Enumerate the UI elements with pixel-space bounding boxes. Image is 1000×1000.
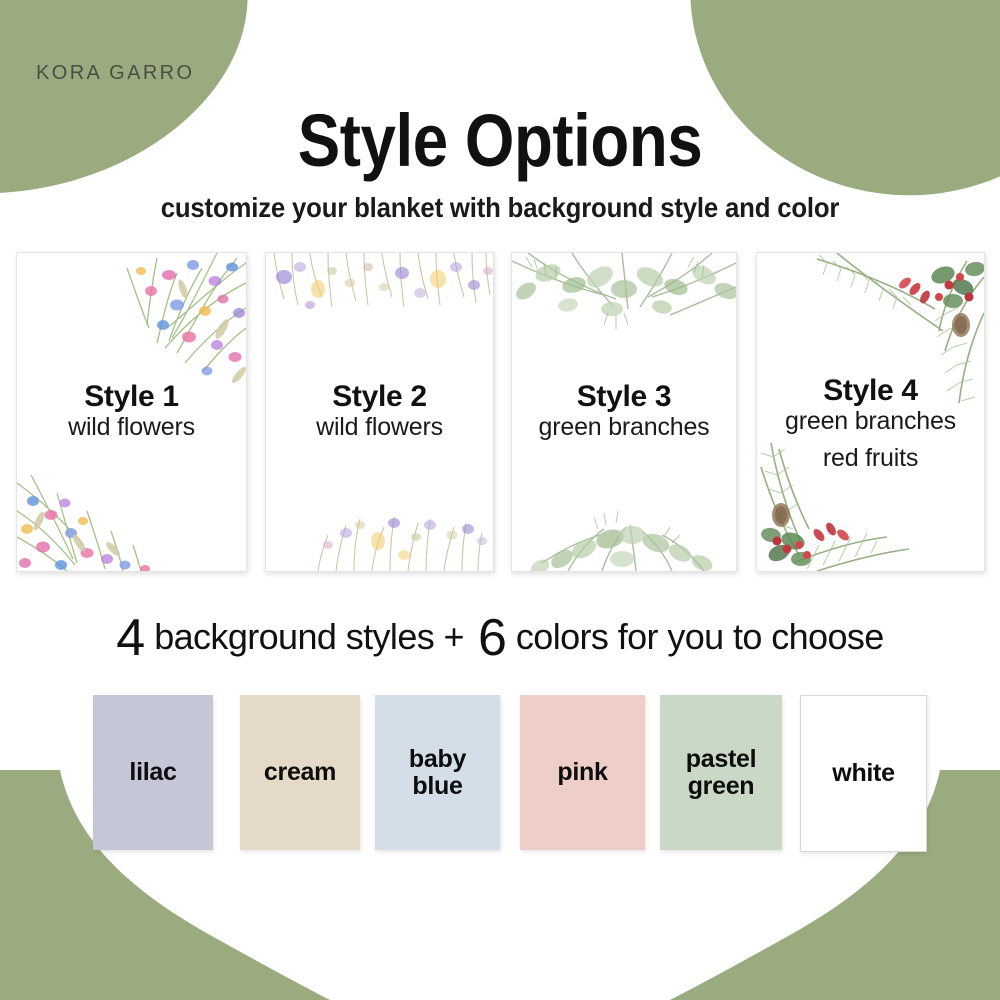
brand-logo-text: KORA GARRO xyxy=(36,62,194,85)
summary-line: 4background styles +6colors for you to c… xyxy=(0,608,1000,668)
style-4-desc: green branches xyxy=(737,407,1000,437)
style-2-label-group: Style 2 wild flowers xyxy=(246,381,513,442)
style-3-label-group: Style 3 green branches xyxy=(492,381,756,442)
color-label-cream: cream xyxy=(264,759,336,786)
color-swatch-baby-blue[interactable]: baby blue xyxy=(375,695,500,850)
color-swatch-pink[interactable]: pink xyxy=(520,695,645,850)
style-card-1[interactable]: Style 1 wild flowers xyxy=(16,252,247,572)
style-4-label-group: Style 4 green branches red fruits xyxy=(737,375,1000,474)
style-card-4[interactable]: Style 4 green branches red fruits xyxy=(756,252,985,572)
style-card-2[interactable]: Style 2 wild flowers xyxy=(265,252,494,572)
style-1-name: Style 1 xyxy=(0,381,266,413)
style-2-desc: wild flowers xyxy=(246,413,513,443)
color-label-baby-blue-line2: blue xyxy=(412,772,462,800)
style-4-desc-2: red fruits xyxy=(737,444,1000,474)
colors-text: colors for you to choose xyxy=(516,616,884,657)
style-1-label-group: Style 1 wild flowers xyxy=(0,381,266,442)
color-swatch-lilac[interactable]: lilac xyxy=(93,695,213,850)
color-label-lilac: lilac xyxy=(129,759,176,786)
color-label-baby-blue: baby blue xyxy=(409,746,466,800)
styles-text: background styles + xyxy=(154,616,464,657)
color-label-white: white xyxy=(832,760,894,787)
style-count: 4 xyxy=(116,609,144,667)
color-count: 6 xyxy=(478,609,506,667)
color-label-pastel-green-line2: green xyxy=(688,772,755,800)
style-3-desc: green branches xyxy=(492,413,756,443)
page-subtitle: customize your blanket with background s… xyxy=(40,192,960,224)
color-swatch-cream[interactable]: cream xyxy=(240,695,360,850)
color-label-pastel-green: pastel green xyxy=(686,746,756,800)
style-3-name: Style 3 xyxy=(492,381,756,413)
poster-canvas: KORA GARRO Style Options customize your … xyxy=(0,0,1000,1000)
style-1-desc: wild flowers xyxy=(0,413,266,443)
style-card-list: Style 1 wild flowers xyxy=(0,252,1000,572)
color-swatch-list: lilac cream baby blue pink pastel green … xyxy=(0,695,1000,855)
style-card-3[interactable]: Style 3 green branches xyxy=(511,252,737,572)
color-label-pink: pink xyxy=(557,759,607,786)
color-label-pastel-green-line1: pastel xyxy=(686,745,756,773)
style-4-name: Style 4 xyxy=(737,375,1000,407)
color-swatch-white[interactable]: white xyxy=(800,695,927,852)
color-label-baby-blue-line1: baby xyxy=(409,745,466,773)
color-swatch-pastel-green[interactable]: pastel green xyxy=(660,695,782,850)
style-2-name: Style 2 xyxy=(246,381,513,413)
page-title: Style Options xyxy=(70,104,930,178)
